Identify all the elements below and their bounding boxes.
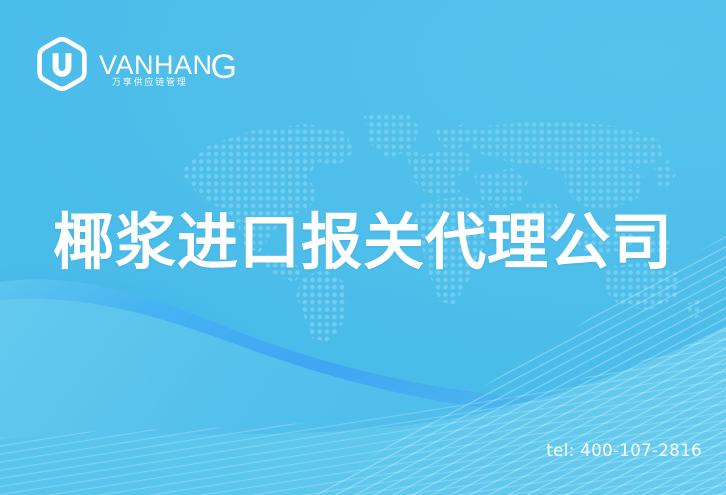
logo-text-block: VANHANG 万享供应链管理: [99, 43, 237, 85]
logo-wordmark: VANHANG: [99, 48, 237, 80]
logo-wordmark-main: VANHAN: [99, 50, 213, 80]
promo-banner: VANHANG 万享供应链管理 椰浆进口报关代理公司 tel: 400-107-…: [0, 0, 726, 495]
brand-logo[interactable]: VANHANG 万享供应链管理: [34, 36, 237, 92]
contact-phone[interactable]: tel: 400-107-2816: [546, 441, 702, 461]
vanhang-hexagon-logo-icon: [34, 36, 90, 92]
logo-subtitle: 万享供应链管理: [112, 78, 188, 88]
logo-wordmark-tail: G: [211, 48, 238, 86]
headline-title: 椰浆进口报关代理公司: [0, 207, 726, 279]
